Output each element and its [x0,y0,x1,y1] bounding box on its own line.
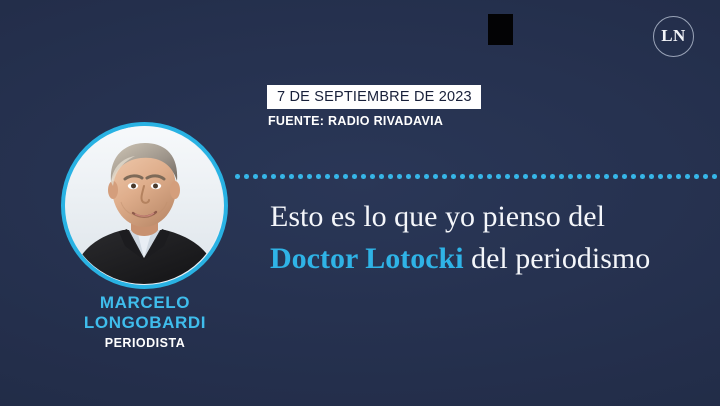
quote-card: LN 7 DE SEPTIEMBRE DE 2023 FUENTE: RADIO… [0,0,720,406]
dotted-divider [233,174,720,179]
speaker-caption: MARCELO LONGOBARDI PERIODISTA [0,293,290,351]
source-text: FUENTE: RADIO RIVADAVIA [268,114,443,128]
speaker-role: PERIODISTA [0,335,290,351]
quote-highlight: Doctor Lotocki [270,242,464,275]
avatar [61,122,228,289]
black-block-overlay [488,14,513,45]
avatar-ring [61,122,228,289]
quote-text: Esto es lo que yo pienso del Doctor Loto… [270,196,700,280]
date-badge: 7 DE SEPTIEMBRE DE 2023 [267,85,481,109]
speaker-name-line2: LONGOBARDI [0,313,290,333]
speaker-name-line1: MARCELO [0,293,290,313]
quote-part-2: del periodismo [464,242,651,275]
ln-logo: LN [653,16,694,57]
quote-part-1: Esto es lo que yo pienso del [270,200,605,233]
ln-logo-text: LN [661,27,686,44]
avatar-photo [65,126,224,285]
portrait-illustration [65,126,223,284]
date-text: 7 DE SEPTIEMBRE DE 2023 [277,89,472,105]
